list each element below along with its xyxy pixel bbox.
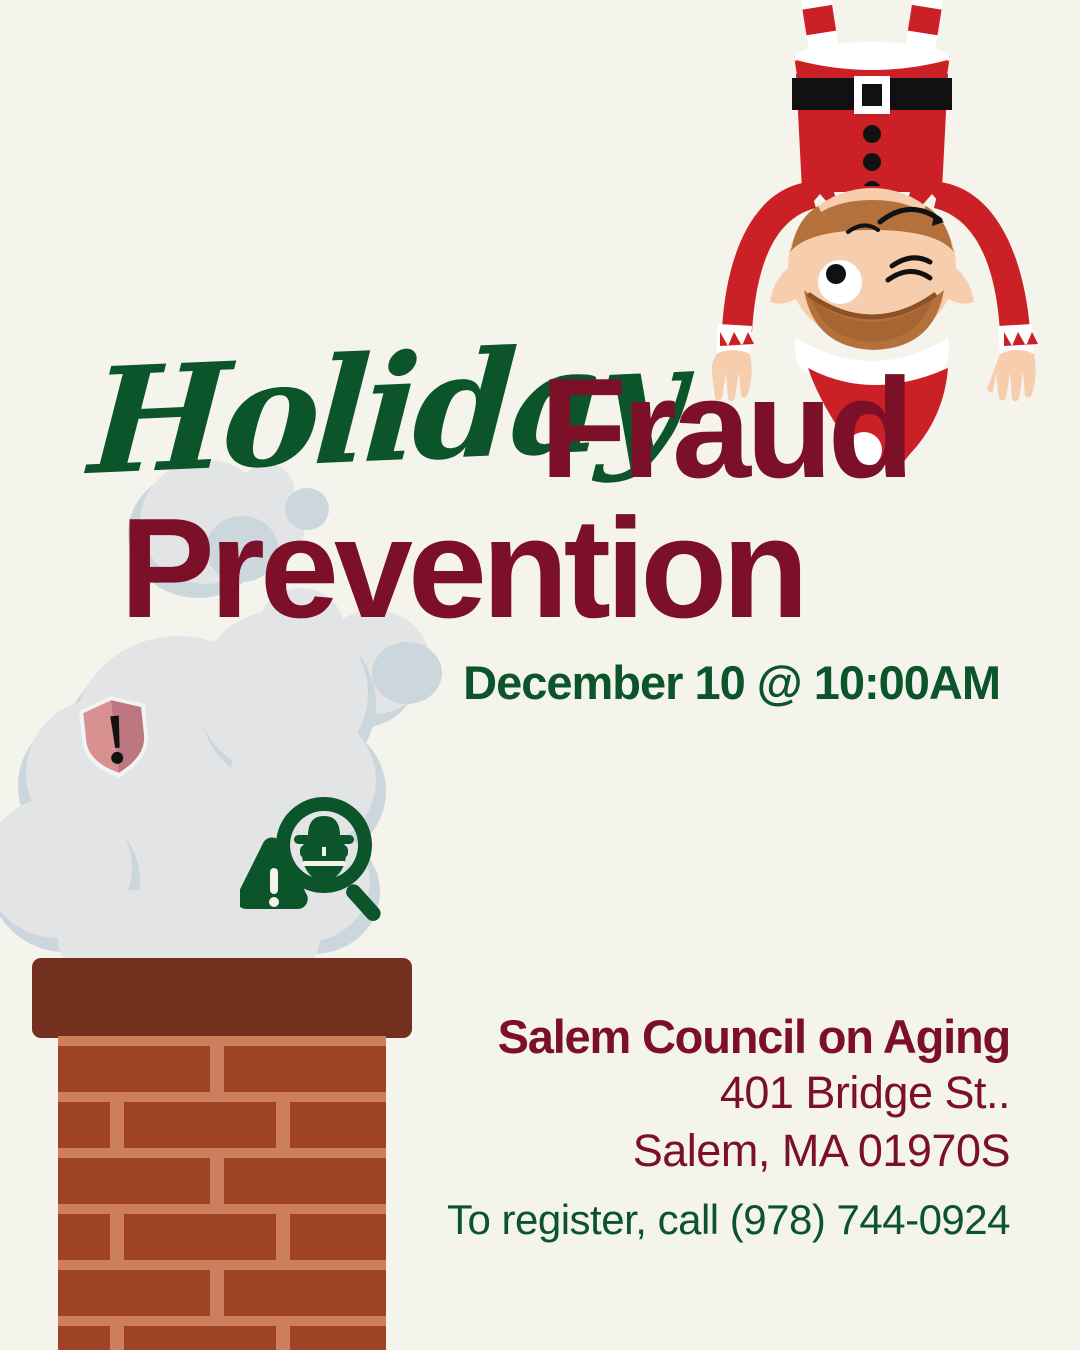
fraud-magnifier-icon: [240, 793, 395, 923]
brick: [224, 1270, 386, 1316]
venue-block: Salem Council on Aging 401 Bridge St.. S…: [420, 1010, 1010, 1179]
brick: [124, 1102, 276, 1148]
brick: [224, 1046, 386, 1092]
brick: [58, 1158, 210, 1204]
brick: [58, 1270, 210, 1316]
brick: [290, 1214, 386, 1260]
brick-chimney-illustration: [58, 958, 386, 1350]
chimney-cap: [32, 958, 412, 1038]
brick: [58, 1046, 210, 1092]
title-word-prevention: Prevention: [120, 498, 804, 640]
brick: [290, 1326, 386, 1350]
title-word-fraud: Fraud: [540, 358, 909, 500]
brick: [124, 1214, 276, 1260]
chimney-brick-body: [58, 1036, 386, 1350]
venue-address-line-2: Salem, MA 01970S: [420, 1122, 1010, 1180]
venue-name: Salem Council on Aging: [420, 1010, 1010, 1064]
brick: [124, 1326, 276, 1350]
registration-line: To register, call (978) 744-0924: [380, 1196, 1010, 1244]
brick: [224, 1158, 386, 1204]
brick: [290, 1102, 386, 1148]
event-datetime: December 10 @ 10:00AM: [0, 655, 1000, 710]
venue-address-line-1: 401 Bridge St..: [420, 1064, 1010, 1122]
holiday-fraud-prevention-flyer: Holiday Fraud Prevention December 10 @ 1…: [0, 0, 1080, 1350]
brick: [58, 1326, 110, 1350]
brick: [58, 1214, 110, 1260]
brick: [58, 1102, 110, 1148]
